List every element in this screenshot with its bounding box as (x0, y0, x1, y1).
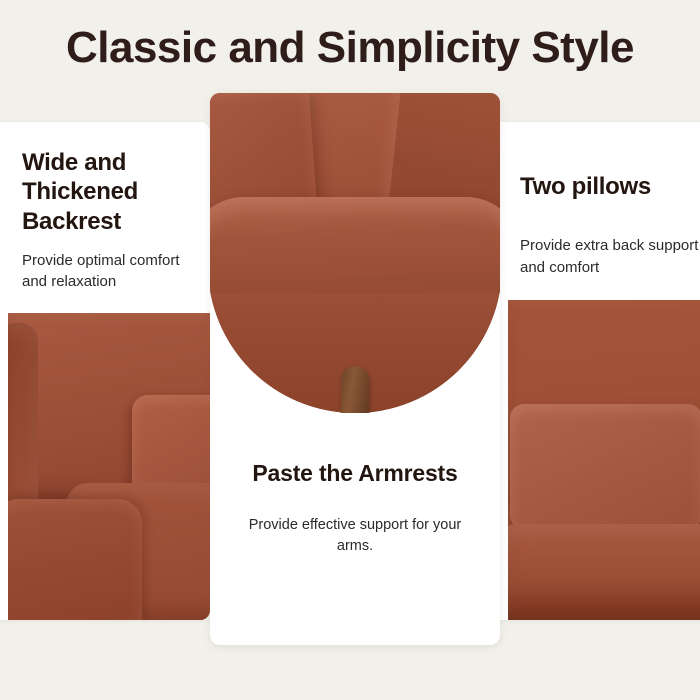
feature-photo-right (508, 300, 700, 620)
feature-heading-center: Paste the Armrests (232, 459, 478, 487)
feature-photo-center (210, 93, 500, 413)
sofa-backrest-right-shape (384, 93, 500, 209)
sofa-base-shape (508, 586, 700, 620)
feature-body-left: Provide optimal comfort and relaxation (22, 250, 208, 293)
sofa-lumbar-pillow-shape (510, 404, 700, 529)
feature-heading-right: Two pillows (520, 172, 700, 201)
sofa-wooden-leg (341, 366, 369, 413)
feature-card-right: Two pillows Provide extra back support a… (490, 122, 700, 620)
feature-text-center: Paste the Armrests Provide effective sup… (210, 459, 500, 557)
feature-heading-left: Wide and Thickened Backrest (22, 148, 208, 236)
sofa-seat-left-shape (8, 499, 142, 620)
feature-text-right: Two pillows Provide extra back support a… (520, 172, 700, 278)
feature-text-left: Wide and Thickened Backrest Provide opti… (22, 148, 208, 292)
feature-body-right: Provide extra back support and comfort (520, 235, 700, 278)
feature-body-center: Provide effective support for your arms. (232, 515, 478, 557)
feature-card-center: Paste the Armrests Provide effective sup… (210, 93, 500, 645)
page-title: Classic and Simplicity Style (0, 24, 700, 72)
feature-photo-center-wrap (210, 93, 500, 413)
sofa-pillow-shape (132, 395, 210, 497)
feature-photo-left (8, 313, 210, 620)
sofa-arm-shape (8, 323, 38, 518)
feature-card-left: Wide and Thickened Backrest Provide opti… (0, 122, 210, 620)
